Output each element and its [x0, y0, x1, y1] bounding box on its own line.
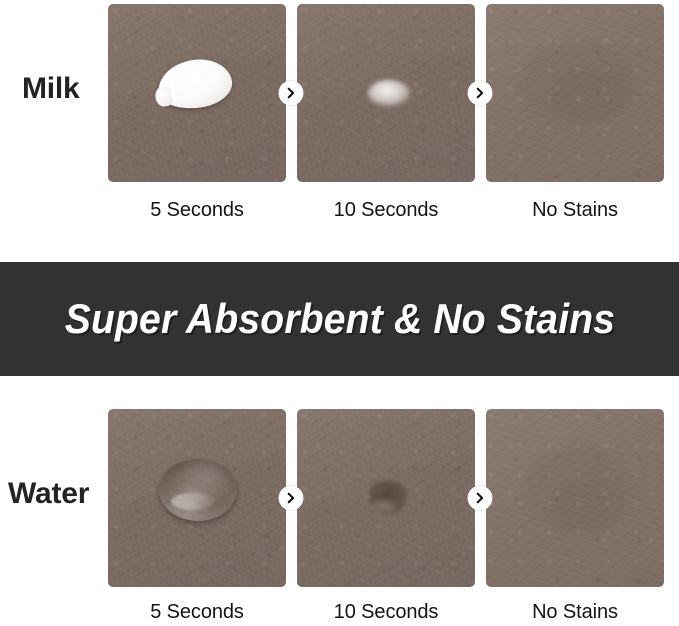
feature-banner: Super Absorbent & No Stains — [0, 262, 679, 376]
milk-demo-row: Milk — [0, 0, 679, 262]
leather-swatch — [108, 4, 286, 182]
water-damp-spot — [369, 481, 407, 515]
water-clean-surface — [526, 445, 630, 537]
water-tile-strip — [108, 409, 664, 587]
water-droplet-beaded — [159, 459, 237, 521]
caption-milk-no-stains: No Stains — [486, 199, 664, 222]
water-tile-10-seconds — [297, 409, 475, 587]
chevron-right-icon — [279, 81, 304, 106]
caption-milk-10-seconds: 10 Seconds — [297, 199, 475, 222]
leather-swatch — [486, 4, 664, 182]
milk-tile-5-seconds — [108, 4, 286, 182]
milk-tile-strip — [108, 4, 664, 182]
caption-water-10-seconds: 10 Seconds — [297, 601, 475, 624]
milk-residue-absorbing — [368, 80, 410, 106]
chevron-right-icon — [468, 81, 493, 106]
water-demo-row: Water — [0, 376, 679, 626]
caption-water-5-seconds: 5 Seconds — [108, 601, 286, 624]
milk-droplet-pooled — [155, 55, 235, 113]
milk-tile-10-seconds — [297, 4, 475, 182]
milk-tile-no-stains — [486, 4, 664, 182]
chevron-right-icon — [279, 486, 304, 511]
water-caption-row: 5 Seconds 10 Seconds No Stains — [108, 601, 664, 624]
banner-headline: Super Absorbent & No Stains — [64, 295, 614, 343]
water-tile-no-stains — [486, 409, 664, 587]
substance-label-milk: Milk — [22, 72, 80, 106]
water-tile-5-seconds — [108, 409, 286, 587]
substance-label-water: Water — [8, 477, 89, 511]
leather-swatch — [108, 409, 286, 587]
milk-caption-row: 5 Seconds 10 Seconds No Stains — [108, 199, 664, 222]
leather-swatch — [297, 4, 475, 182]
leather-swatch — [297, 409, 475, 587]
caption-water-no-stains: No Stains — [486, 601, 664, 624]
chevron-right-icon — [468, 486, 493, 511]
caption-milk-5-seconds: 5 Seconds — [108, 199, 286, 222]
milk-clean-surface — [518, 42, 636, 126]
leather-swatch — [486, 409, 664, 587]
